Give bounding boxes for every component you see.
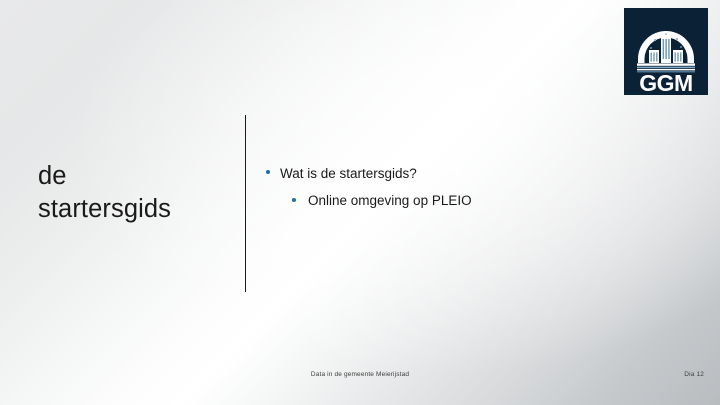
bullet-dot-icon bbox=[266, 170, 270, 174]
logo-wordmark: GGM bbox=[639, 70, 692, 95]
content-body: Wat is de startersgids? Online omgeving … bbox=[262, 163, 682, 211]
bullet-label: Online omgeving op PLEIO bbox=[308, 193, 472, 208]
page-title: de startersgids bbox=[38, 160, 223, 226]
footer-text: Data in de gemeente Meierijstad bbox=[0, 371, 720, 378]
ggm-logo: GGM bbox=[624, 8, 708, 95]
page-title-line-1: de bbox=[38, 160, 223, 193]
slide-number: Dia 12 bbox=[684, 371, 704, 378]
bullet-dot-icon bbox=[292, 198, 296, 202]
bullet-item-level2: Online omgeving op PLEIO bbox=[262, 190, 682, 211]
vertical-divider bbox=[245, 115, 246, 292]
bullet-label: Wat is de startersgids? bbox=[280, 166, 417, 181]
bullet-item-level1: Wat is de startersgids? bbox=[262, 163, 682, 184]
page-title-line-2: startersgids bbox=[38, 193, 223, 226]
slide-canvas: GGM de startersgids Wat is de startersgi… bbox=[0, 0, 720, 405]
